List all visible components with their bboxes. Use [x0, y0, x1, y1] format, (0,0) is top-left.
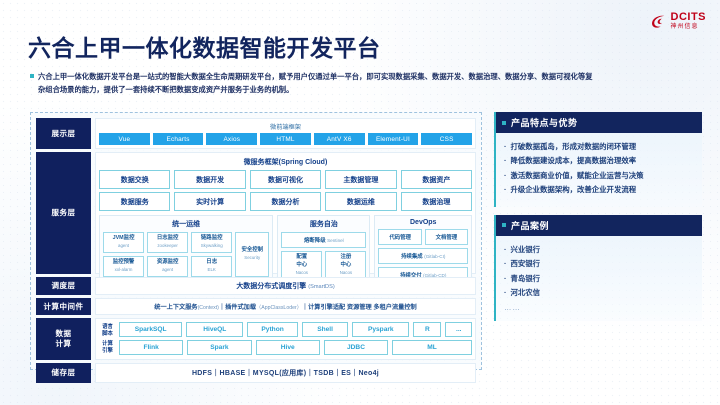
script-pyspark[interactable]: Pyspark — [352, 322, 409, 337]
schedule-engine-title: 大数据分布式调度引擎 (SmartDS) — [100, 281, 471, 291]
service-module-row-2: 数据服务 实时计算 数据分析 数据运维 数据治理 — [99, 192, 472, 211]
service-module-row-1: 数据交换 数据开发 数据可视化 主数据管理 数据资产 — [99, 170, 472, 189]
card-cases-header: 产品案例 — [496, 215, 702, 236]
governance-cell-circuit-breaker-en: Sentinel — [327, 238, 344, 243]
ops-cell-grid: JVM监控 agent 监控预警 xxl-alarm 日志监 — [103, 232, 269, 277]
ops-cell-jvm-monitor-en: agent — [118, 243, 129, 248]
ops-cell-jvm-monitor-cn: JVM监控 — [105, 235, 142, 243]
service-layer-row: 服务层 微服务框架(Spring Cloud) 数据交换 数据开发 数据可视化 … — [36, 152, 476, 274]
case-item-more: …… — [504, 301, 694, 312]
script-r[interactable]: R — [413, 322, 441, 337]
middleware-rest: ｜计算引擎适配 资源管理 多租户流量控制 — [302, 304, 417, 311]
module-data-visualization[interactable]: 数据可视化 — [250, 170, 321, 189]
ops-cell-resource-monitor-en: agent — [162, 267, 173, 272]
engine-ml[interactable]: ML — [392, 340, 472, 355]
card-advantages-body: 打破数据孤岛，形成对数据的闭环管理 降低数据建设成本，提高数据治理效率 激活数据… — [496, 133, 702, 207]
devops-cell-doc-management[interactable]: 文档管理 — [425, 229, 468, 245]
middleware-panel: 统一上下文服务(Context)｜插件式加载（AppClassLoder）｜计算… — [95, 298, 476, 315]
card-cases: 产品案例 兴业银行 西安银行 青岛银行 河北农信 …… — [494, 215, 702, 321]
card-cases-body: 兴业银行 西安银行 青岛银行 河北农信 …… — [496, 236, 702, 321]
brand-logo: DCITS 神州信息 — [650, 12, 707, 30]
group-title-unified-operations: 统一运维 — [103, 219, 269, 229]
storage-layer-row: 储存层 HDFS｜HBASE｜MYSQL(应用库)｜TSDB｜ES｜Neo4j — [36, 363, 476, 383]
group-title-service-governance: 服务自治 — [281, 219, 366, 229]
card-advantages: 产品特点与优势 打破数据孤岛，形成对数据的闭环管理 降低数据建设成本，提高数据治… — [494, 112, 702, 207]
layer-label-compute-text: 数据 计算 — [56, 329, 72, 349]
dcits-swirl-icon — [650, 13, 667, 30]
presentation-layer-row: 展示层 微前端框架 Vue Echarts Axios HTML AntV X6… — [36, 118, 476, 149]
middleware-context-service-en: (Context) — [198, 305, 219, 311]
service-caption: 微服务框架(Spring Cloud) — [99, 157, 472, 167]
presentation-caption: 微前端框架 — [99, 122, 472, 131]
script-python[interactable]: Python — [247, 322, 298, 337]
slide-canvas: DCITS 神州信息 六合上甲一体化数据智能开发平台 六合上甲一体化数据开发平台… — [0, 0, 720, 405]
module-data-operations[interactable]: 数据运维 — [325, 192, 396, 211]
ops-cell-alert-monitor[interactable]: 监控预警 xxl-alarm — [103, 256, 144, 277]
advantage-item-4: 升级企业数据架构，改善企业开发流程 — [504, 183, 694, 197]
presentation-panel: 微前端框架 Vue Echarts Axios HTML AntV X6 Ele… — [95, 118, 476, 149]
compute-script-row: SparkSQL HiveQL Python Shell Pyspark R .… — [119, 322, 472, 337]
bullet-square-icon — [30, 74, 34, 78]
ops-cell-alert-monitor-cn: 监控预警 — [105, 259, 142, 267]
governance-stack: 熔断降级 Sentinel 配置 中心 Nacos 注册 — [281, 232, 366, 280]
compute-side-label-script: 语言 脚本 — [99, 324, 116, 338]
ops-cell-security-control-en: Security — [244, 255, 260, 261]
tech-chip-css[interactable]: CSS — [421, 133, 472, 145]
schedule-engine-title-cn: 大数据分布式调度引擎 — [236, 283, 306, 290]
page-title: 六合上甲一体化数据智能开发平台 — [28, 29, 381, 63]
schedule-panel: 大数据分布式调度引擎 (SmartDS) — [95, 277, 476, 295]
case-item-2: 西安银行 — [504, 257, 694, 271]
tech-chip-axios[interactable]: Axios — [206, 133, 257, 145]
layer-label-compute-l2: 计算 — [56, 339, 72, 348]
compute-layer-row: 数据 计算 语言 脚本 计算 引擎 SparkSQ — [36, 318, 476, 360]
card-cases-title: 产品案例 — [511, 219, 549, 232]
intro-line-1: 六合上甲一体化数据开发平台是一站式的智能大数据全生命周期研发平台，赋予用户仅通过… — [38, 72, 593, 81]
architecture-diagram: 展示层 微前端框架 Vue Echarts Axios HTML AntV X6… — [30, 112, 482, 370]
ops-cell-log-monitor-cn: 日志监控 — [149, 235, 186, 243]
governance-cell-config-center[interactable]: 配置 中心 Nacos — [281, 251, 322, 280]
ops-col-3: 链路监控 Skywalking 日志 ELK — [191, 232, 232, 277]
ops-cell-trace-monitor-en: Skywalking — [201, 243, 223, 248]
layer-label-compute: 数据 计算 — [36, 318, 91, 360]
governance-center-pair: 配置 中心 Nacos 注册 中心 Nacos — [281, 251, 366, 280]
module-data-exchange[interactable]: 数据交换 — [99, 170, 170, 189]
engine-flink[interactable]: Flink — [119, 340, 183, 355]
ops-cell-alert-monitor-en: xxl-alarm — [115, 267, 133, 272]
compute-main: SparkSQL HiveQL Python Shell Pyspark R .… — [119, 322, 472, 356]
middleware-plugin-loading: ｜插件式加载 — [219, 304, 256, 311]
compute-side-script-l1: 语言 — [102, 324, 113, 330]
logo-text-cn: 神州信息 — [671, 24, 707, 30]
governance-registry-cn2: 中心 — [327, 262, 364, 270]
governance-cell-circuit-breaker-cn: 熔断降级 — [304, 238, 326, 244]
ops-cell-resource-monitor[interactable]: 资源监控 agent — [147, 256, 188, 277]
case-item-3: 青岛银行 — [504, 272, 694, 286]
module-data-development[interactable]: 数据开发 — [174, 170, 245, 189]
devops-stack: 代码管理 文档管理 持续集成 (Gitlab-CI) 持续交付 (Gitlab-… — [378, 229, 468, 283]
governance-cell-registry-center[interactable]: 注册 中心 Nacos — [325, 251, 366, 280]
advantage-item-3: 激活数据商业价值，赋能企业运营与决策 — [504, 169, 694, 183]
middleware-plugin-loading-en: （AppClassLoder） — [256, 305, 302, 311]
governance-registry-cn1: 注册 — [327, 254, 364, 262]
engine-hive[interactable]: Hive — [256, 340, 320, 355]
side-panels: 产品特点与优势 打破数据孤岛，形成对数据的闭环管理 降低数据建设成本，提高数据治… — [494, 112, 702, 329]
layer-label-middleware: 计算中间件 — [36, 298, 91, 315]
presentation-chip-list: Vue Echarts Axios HTML AntV X6 Element-U… — [99, 133, 472, 145]
intro-paragraph: 六合上甲一体化数据开发平台是一站式的智能大数据全生命周期研发平台，赋予用户仅通过… — [30, 70, 702, 97]
script-shell[interactable]: Shell — [302, 322, 348, 337]
advantage-item-2: 降低数据建设成本，提高数据治理效率 — [504, 154, 694, 168]
compute-engine-row: Flink Spark Hive JDBC ML — [119, 340, 472, 355]
module-data-governance[interactable]: 数据治理 — [401, 192, 472, 211]
ops-cell-log-monitor[interactable]: 日志监控 zookeeper — [147, 232, 188, 253]
ops-cell-log-elk-en: ELK — [208, 267, 216, 272]
ops-cell-security-control-cn: 安全控制 — [241, 247, 263, 255]
tech-chip-antv-x6[interactable]: AntV X6 — [314, 133, 365, 145]
script-more[interactable]: ... — [445, 322, 472, 337]
module-realtime-compute[interactable]: 实时计算 — [174, 192, 245, 211]
script-sparksql[interactable]: SparkSQL — [119, 322, 182, 337]
ops-col-2: 日志监控 zookeeper 资源监控 agent — [147, 232, 188, 277]
compute-side-engine-l2: 引擎 — [102, 348, 113, 354]
compute-side-script-l2: 脚本 — [102, 331, 113, 337]
intro-line-2: 杂组合场景的能力，提供了一套持续不断把数据变成资产并服务于业务的机制。 — [38, 83, 702, 96]
layer-label-compute-l1: 数据 — [56, 329, 72, 338]
devops-top-pair: 代码管理 文档管理 — [378, 229, 468, 245]
governance-cell-circuit-breaker[interactable]: 熔断降级 Sentinel — [281, 232, 366, 248]
ops-cell-trace-monitor-cn: 链路监控 — [193, 235, 230, 243]
ops-cell-jvm-monitor[interactable]: JVM监控 agent — [103, 232, 144, 253]
module-data-assets[interactable]: 数据资产 — [401, 170, 472, 189]
layer-label-storage: 储存层 — [36, 363, 91, 383]
module-data-analysis[interactable]: 数据分析 — [250, 192, 321, 211]
devops-cell-continuous-integration[interactable]: 持续集成 (Gitlab-CI) — [378, 248, 468, 264]
compute-side-labels: 语言 脚本 计算 引擎 — [99, 322, 116, 356]
tech-chip-vue[interactable]: Vue — [99, 133, 150, 145]
storage-panel: HDFS｜HBASE｜MYSQL(应用库)｜TSDB｜ES｜Neo4j — [95, 363, 476, 383]
logo-text-en: DCITS — [671, 12, 707, 23]
devops-cell-code-management[interactable]: 代码管理 — [378, 229, 421, 245]
advantage-item-1: 打破数据孤岛，形成对数据的闭环管理 — [504, 140, 694, 154]
case-item-4: 河北农信 — [504, 286, 694, 300]
devops-ci-cn: 持续集成 — [401, 254, 423, 260]
ops-cell-log-monitor-en: zookeeper — [157, 243, 178, 248]
governance-config-cn2: 中心 — [283, 262, 320, 270]
ops-cell-log-elk-cn: 日志 — [193, 259, 230, 267]
case-item-1: 兴业银行 — [504, 243, 694, 257]
bullet-square-icon — [502, 223, 506, 227]
card-advantages-title: 产品特点与优势 — [511, 116, 578, 129]
ops-cell-log-elk[interactable]: 日志 ELK — [191, 256, 232, 277]
compute-panel: 语言 脚本 计算 引擎 SparkSQL HiveQL Python Shell… — [95, 318, 476, 360]
ops-col-1: JVM监控 agent 监控预警 xxl-alarm — [103, 232, 144, 277]
module-data-service[interactable]: 数据服务 — [99, 192, 170, 211]
layer-label-schedule: 调度层 — [36, 277, 91, 295]
tech-chip-echarts[interactable]: Echarts — [153, 133, 204, 145]
devops-ci-en: (Gitlab-CI) — [424, 254, 445, 259]
module-master-data-management[interactable]: 主数据管理 — [325, 170, 396, 189]
service-panel: 微服务框架(Spring Cloud) 数据交换 数据开发 数据可视化 主数据管… — [95, 152, 476, 274]
schedule-engine-title-en: (SmartDS) — [308, 284, 334, 290]
engine-jdbc[interactable]: JDBC — [324, 340, 388, 355]
tech-chip-html[interactable]: HTML — [260, 133, 311, 145]
layer-label-presentation: 展示层 — [36, 118, 91, 149]
ops-cell-trace-monitor[interactable]: 链路监控 Skywalking — [191, 232, 232, 253]
ops-cell-resource-monitor-cn: 资源监控 — [149, 259, 186, 267]
schedule-layer-row: 调度层 大数据分布式调度引擎 (SmartDS) — [36, 277, 476, 295]
governance-config-en: Nacos — [296, 270, 308, 275]
script-hiveql[interactable]: HiveQL — [186, 322, 243, 337]
ops-cell-security-control[interactable]: 安全控制 Security — [235, 232, 269, 277]
card-advantages-header: 产品特点与优势 — [496, 112, 702, 133]
tech-chip-element-ui[interactable]: Element-UI — [368, 133, 419, 145]
governance-registry-en: Nacos — [340, 270, 352, 275]
bullet-square-icon — [502, 121, 506, 125]
compute-side-label-engine: 计算 引擎 — [99, 341, 116, 355]
middleware-layer-row: 计算中间件 统一上下文服务(Context)｜插件式加载（AppClassLod… — [36, 298, 476, 315]
engine-spark[interactable]: Spark — [187, 340, 251, 355]
layer-label-service: 服务层 — [36, 152, 91, 274]
governance-config-cn1: 配置 — [283, 254, 320, 262]
group-title-devops: DevOps — [378, 219, 468, 226]
middleware-context-service: 统一上下文服务 — [154, 304, 197, 311]
compute-side-engine-l1: 计算 — [102, 341, 113, 347]
